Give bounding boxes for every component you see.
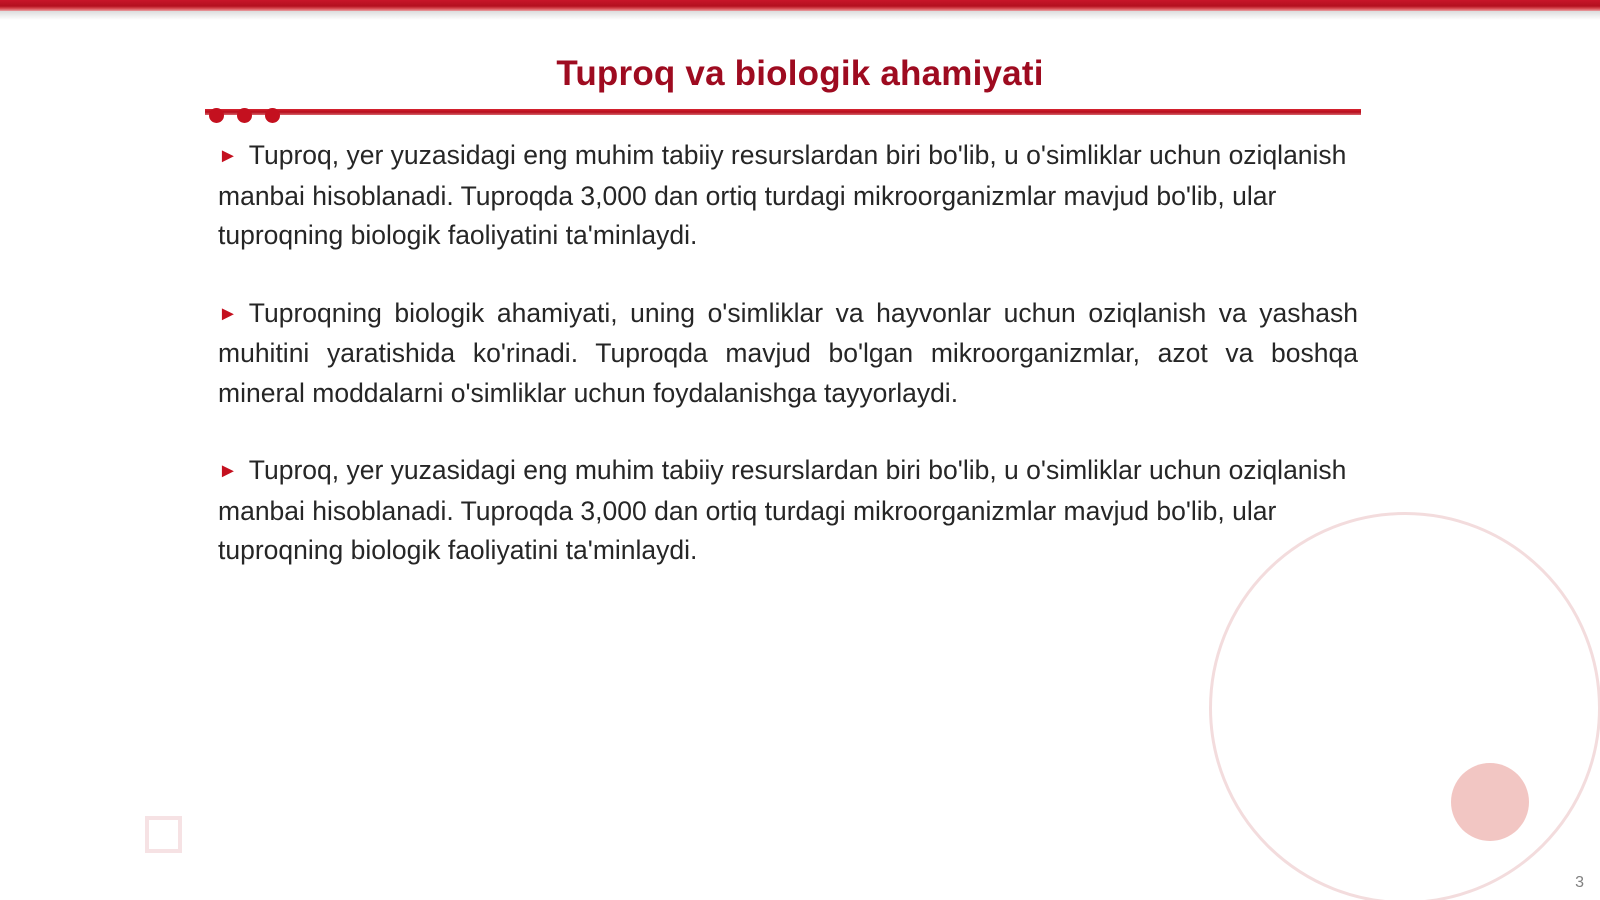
bullet-paragraph-3: ►Tuproq, yer yuzasidagi eng muhim tabiiy… — [218, 451, 1358, 571]
divider-rule — [205, 109, 1361, 115]
bullet-triangle-icon: ► — [218, 460, 238, 482]
divider-dot-2 — [237, 108, 252, 123]
page-number: 3 — [1575, 874, 1584, 892]
bullet-triangle-icon: ► — [218, 145, 238, 167]
paragraph-text-3: Tuproq, yer yuzasidagi eng muhim tabiiy … — [218, 455, 1346, 565]
divider-dot-1 — [209, 108, 224, 123]
slide-title: Tuproq va biologik ahamiyati — [0, 54, 1600, 94]
decorative-filled-dot — [1451, 763, 1529, 841]
decorative-square-outline — [145, 816, 182, 853]
title-divider — [205, 103, 1361, 125]
bullet-paragraph-1: ►Tuproq, yer yuzasidagi eng muhim tabiiy… — [218, 136, 1358, 256]
bullet-triangle-icon: ► — [218, 303, 238, 325]
top-accent-bar-shadow — [0, 11, 1600, 20]
top-accent-bar — [0, 0, 1600, 11]
slide-body: ►Tuproq, yer yuzasidagi eng muhim tabiiy… — [218, 136, 1358, 571]
bullet-paragraph-2: ►Tuproqning biologik ahamiyati, uning o'… — [218, 294, 1358, 414]
divider-dot-3 — [265, 108, 280, 123]
paragraph-text-1: Tuproq, yer yuzasidagi eng muhim tabiiy … — [218, 140, 1346, 250]
presentation-slide: Tuproq va biologik ahamiyati ►Tuproq, ye… — [0, 0, 1600, 900]
paragraph-text-2: Tuproqning biologik ahamiyati, uning o's… — [218, 298, 1358, 408]
